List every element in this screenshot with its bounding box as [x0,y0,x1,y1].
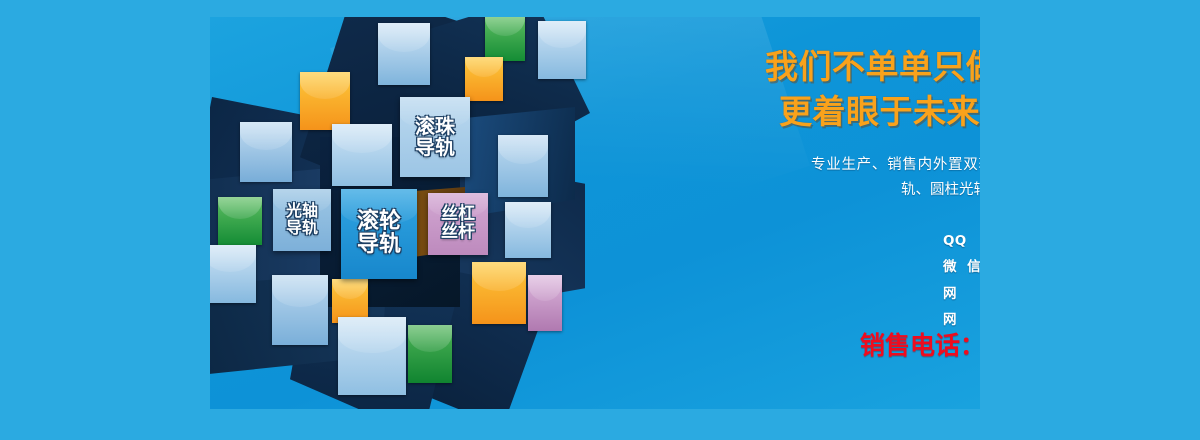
cube-lightblue-2 [538,21,586,79]
cube-cluster-graphic: 滚珠导轨 光轴导轨 滚轮导轨 丝杠丝杆 [210,17,560,417]
cube-green-3 [408,325,452,383]
contact-key-qq: QQ [943,228,980,254]
sales-phone-label: 销售电话： [860,331,980,360]
contact-row-wechat: 微信号 ： zxdgzc （直线导轨轴承） [943,254,980,280]
cube-orange-2 [465,57,503,101]
label-gunlun-line2: 导轨 [357,232,401,257]
contact-key-wechat: 微信号 [943,254,980,280]
cube-lightblue-6 [210,245,256,303]
cube-pink-1 [528,275,562,331]
cube-green-1 [485,17,525,61]
content-column: 我们不单单只做您目前的订单 更着眼于未来与您长期合作 专业生产、销售内外置双轴心… [755,17,980,423]
label-cube-sigang-sigan: 丝杠丝杆 [428,193,488,255]
label-cube-gunzhu-daogui: 滚珠导轨 [400,97,470,177]
cube-green-2 [218,197,262,245]
cube-lightblue-3 [240,122,292,182]
label-sigang-line2: 丝杆 [441,222,475,242]
cube-lightblue-1 [378,23,430,85]
description-text: 专业生产、销售内外置双轴心滚轮直线导轨、滚珠直线导轨、圆柱光轴导轨、丝杠丝杆、直… [811,153,980,203]
label-gunlun-line1: 滚轮 [357,209,401,234]
cube-lightblue-7 [272,275,328,345]
cube-lightblue-9 [338,317,406,395]
contact-row-qq: QQ ： 80286553 [943,228,980,254]
cube-lightblue-4 [332,124,392,186]
label-guangzhou-line2: 导轨 [286,218,318,237]
contact-block: QQ ： 80286553 微信号 ： zxdgzc （直线导轨轴承） 网址 ：… [943,228,980,333]
cube-orange-1 [300,72,350,130]
label-cube-gunlun-daogui: 滚轮导轨 [341,189,417,279]
label-cube-guangzhou-daogui: 光轴导轨 [273,189,331,251]
cube-lightblue-8 [505,202,551,258]
cube-lightblue-5 [498,135,548,197]
label-gunzhu-line2: 导轨 [415,135,455,159]
headline: 我们不单单只做您目前的订单 更着眼于未来与您长期合作 [765,44,980,134]
headline-line-1: 我们不单单只做您目前的订单 [765,44,980,89]
contact-row-website-1: 网址 ： Www.Zxdgzc.Com [943,281,980,307]
contact-key-website-1: 网址 [943,281,980,307]
cube-orange-4 [472,262,526,324]
sales-phone: 销售电话：18357860469 [860,326,980,362]
headline-line-2: 更着眼于未来与您长期合作 [765,89,980,134]
panel-bottom-strip [210,409,980,423]
promo-banner: 滚珠导轨 光轴导轨 滚轮导轨 丝杠丝杆 我们不单单只做您目前的订单 更着眼于未来… [0,0,1200,440]
banner-panel: 滚珠导轨 光轴导轨 滚轮导轨 丝杠丝杆 我们不单单只做您目前的订单 更着眼于未来… [210,17,980,423]
